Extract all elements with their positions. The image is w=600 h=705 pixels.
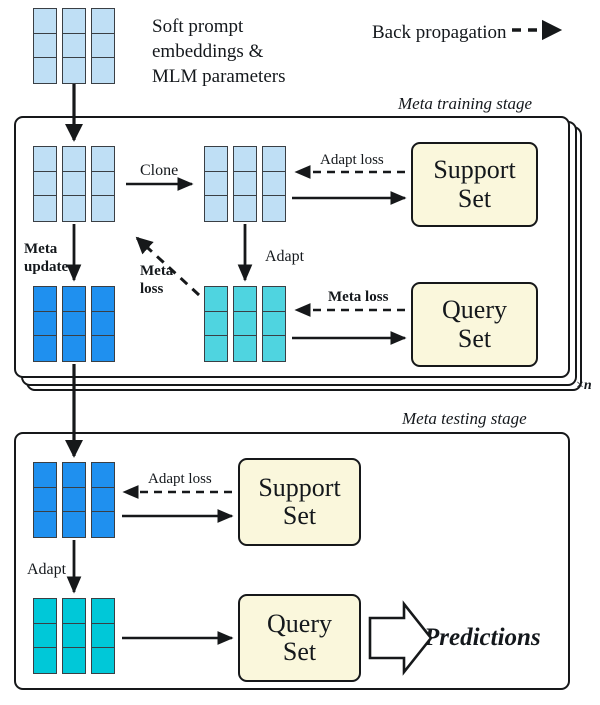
meta-testing-stage-label: Meta testing stage <box>402 409 527 429</box>
training-support-set-line2: Set <box>458 185 491 213</box>
block-cell <box>34 599 56 624</box>
testing-support-set-box[interactable]: Support Set <box>238 458 361 546</box>
block-cell <box>92 196 114 221</box>
soft-prompt-caption: Soft prompt embeddings & MLM parameters <box>152 14 285 89</box>
training-query-set-line2: Set <box>458 325 491 353</box>
training-support-set-box[interactable]: Support Set <box>411 142 538 227</box>
repeat-count: n <box>584 378 592 393</box>
training-adapt-label: Adapt <box>265 247 304 267</box>
block-test-initial-parameters <box>33 462 115 538</box>
training-support-set-line1: Support <box>433 156 515 184</box>
testing-support-set-line1: Support <box>258 474 340 502</box>
block-cell <box>205 147 227 172</box>
meta-update-line2: update <box>24 258 68 276</box>
block-column <box>262 146 286 222</box>
block-cell <box>34 287 56 312</box>
block-cell <box>263 312 285 337</box>
testing-adapt-loss-label: Adapt loss <box>148 470 212 489</box>
block-cell <box>205 172 227 197</box>
meta-loss-label-left: Meta loss <box>140 262 173 299</box>
block-column <box>91 146 115 222</box>
block-soft-prompt-embeddings <box>33 8 115 84</box>
block-train-cloned-parameters <box>204 146 286 222</box>
block-cell <box>63 58 85 83</box>
training-query-set-line1: Query <box>442 296 507 324</box>
diagram-canvas: Soft prompt embeddings & MLM parameters … <box>0 0 600 705</box>
block-column <box>262 286 286 362</box>
block-cell <box>34 58 56 83</box>
block-cell <box>63 147 85 172</box>
block-test-adapted-parameters <box>33 598 115 674</box>
block-cell <box>34 9 56 34</box>
meta-loss-left-line2: loss <box>140 280 173 298</box>
testing-query-set-box[interactable]: Query Set <box>238 594 361 682</box>
block-cell <box>234 336 256 361</box>
meta-training-repeat-label: ×n <box>576 378 592 394</box>
block-cell <box>92 9 114 34</box>
block-cell <box>63 599 85 624</box>
block-cell <box>63 463 85 488</box>
training-adapt-loss-label: Adapt loss <box>320 151 384 170</box>
block-column <box>62 462 86 538</box>
block-cell <box>263 196 285 221</box>
block-cell <box>63 488 85 513</box>
block-cell <box>92 336 114 361</box>
block-column <box>62 286 86 362</box>
block-cell <box>92 599 114 624</box>
block-cell <box>234 196 256 221</box>
block-column <box>204 286 228 362</box>
meta-loss-left-line1: Meta <box>140 262 173 280</box>
block-cell <box>34 512 56 537</box>
block-cell <box>34 196 56 221</box>
block-cell <box>34 463 56 488</box>
block-cell <box>234 172 256 197</box>
block-cell <box>205 336 227 361</box>
block-cell <box>63 34 85 59</box>
repeat-prefix: × <box>576 378 584 393</box>
block-cell <box>34 312 56 337</box>
block-cell <box>63 512 85 537</box>
block-cell <box>92 463 114 488</box>
block-cell <box>234 312 256 337</box>
block-train-meta-parameters <box>33 146 115 222</box>
block-cell <box>34 34 56 59</box>
block-cell <box>34 336 56 361</box>
block-column <box>233 286 257 362</box>
legend-back-propagation-label: Back propagation <box>372 20 507 45</box>
soft-prompt-caption-line1: Soft prompt <box>152 14 285 39</box>
block-cell <box>263 336 285 361</box>
meta-update-label: Meta update <box>24 240 68 277</box>
block-cell <box>234 287 256 312</box>
block-column <box>62 598 86 674</box>
block-cell <box>63 196 85 221</box>
block-cell <box>92 147 114 172</box>
block-cell <box>63 9 85 34</box>
block-cell <box>92 34 114 59</box>
block-cell <box>63 648 85 673</box>
block-column <box>91 286 115 362</box>
block-cell <box>263 147 285 172</box>
meta-update-line1: Meta <box>24 240 68 258</box>
block-cell <box>205 287 227 312</box>
block-cell <box>92 488 114 513</box>
block-column <box>33 146 57 222</box>
testing-adapt-label: Adapt <box>27 560 66 580</box>
block-cell <box>34 172 56 197</box>
block-cell <box>63 336 85 361</box>
block-column <box>33 286 57 362</box>
block-cell <box>63 624 85 649</box>
block-column <box>33 462 57 538</box>
block-cell <box>92 648 114 673</box>
block-column <box>33 598 57 674</box>
block-cell <box>263 287 285 312</box>
block-cell <box>234 147 256 172</box>
block-train-adapted-parameters <box>204 286 286 362</box>
predictions-label: Predictions <box>424 624 541 652</box>
block-cell <box>205 312 227 337</box>
training-query-set-box[interactable]: Query Set <box>411 282 538 367</box>
soft-prompt-caption-line3: MLM parameters <box>152 64 285 89</box>
block-column <box>204 146 228 222</box>
block-column <box>233 146 257 222</box>
meta-training-stage-label: Meta training stage <box>398 94 532 114</box>
block-cell <box>92 287 114 312</box>
block-train-updated-parameters <box>33 286 115 362</box>
testing-query-set-line2: Set <box>283 638 316 666</box>
testing-query-set-line1: Query <box>267 610 332 638</box>
clone-label: Clone <box>140 161 178 181</box>
block-cell <box>92 172 114 197</box>
block-cell <box>263 172 285 197</box>
testing-support-set-line2: Set <box>283 502 316 530</box>
soft-prompt-caption-line2: embeddings & <box>152 39 285 64</box>
block-column <box>91 8 115 84</box>
block-column <box>62 146 86 222</box>
block-cell <box>34 648 56 673</box>
block-cell <box>92 624 114 649</box>
block-cell <box>63 172 85 197</box>
block-column <box>91 598 115 674</box>
block-column <box>33 8 57 84</box>
block-cell <box>92 58 114 83</box>
block-cell <box>63 287 85 312</box>
block-cell <box>205 196 227 221</box>
block-cell <box>34 624 56 649</box>
block-cell <box>92 312 114 337</box>
block-cell <box>34 147 56 172</box>
block-cell <box>63 312 85 337</box>
block-cell <box>92 512 114 537</box>
meta-loss-label-right: Meta loss <box>328 288 388 306</box>
block-cell <box>34 488 56 513</box>
block-column <box>62 8 86 84</box>
block-column <box>91 462 115 538</box>
